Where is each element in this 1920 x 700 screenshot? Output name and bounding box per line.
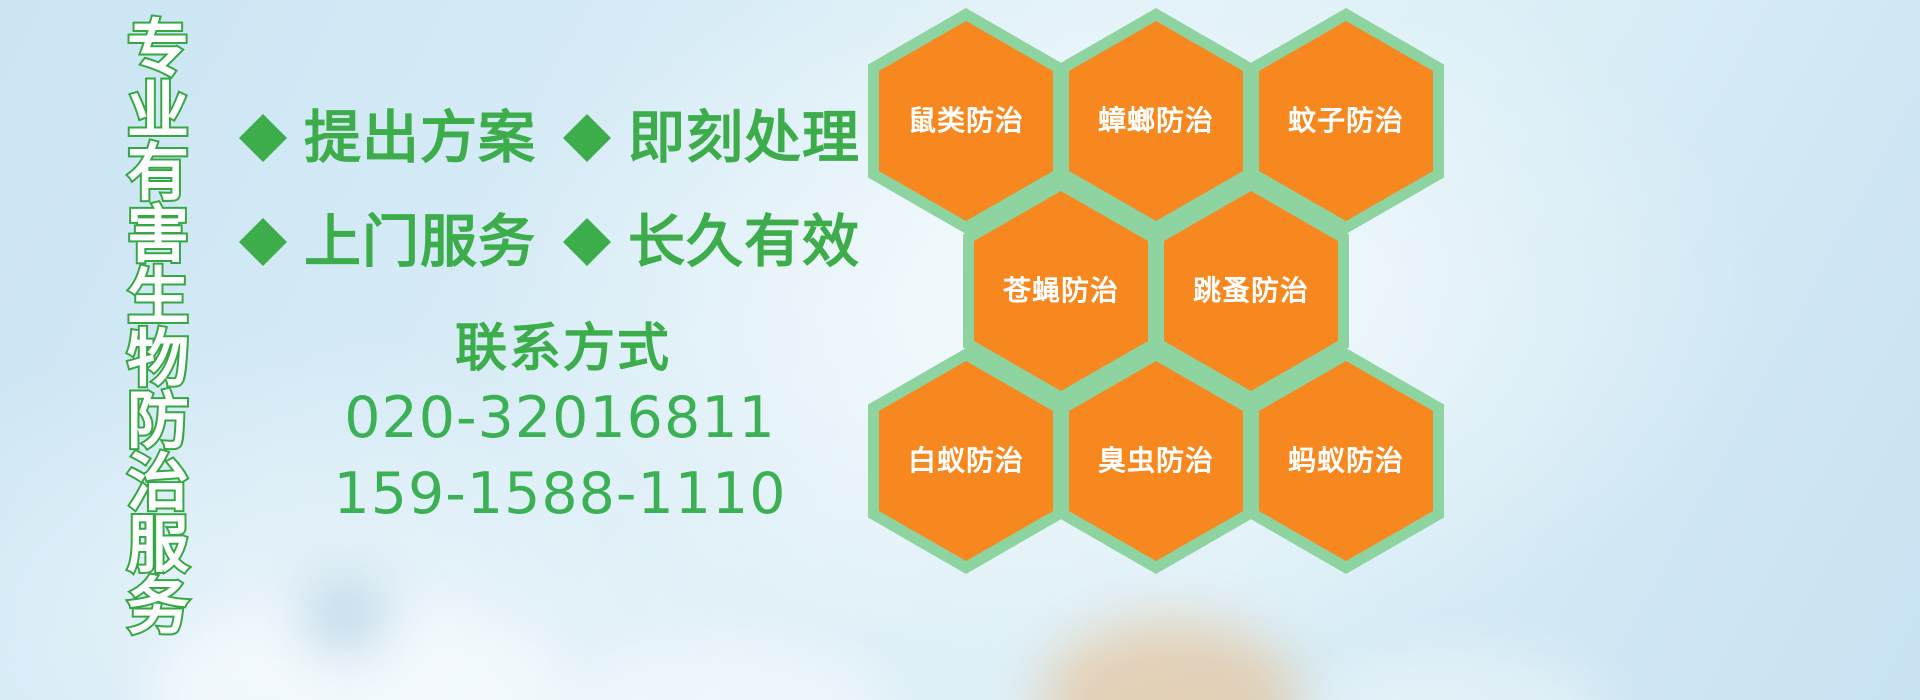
background-blur-shape — [150, 600, 570, 700]
vertical-headline-char: 物 — [127, 328, 189, 390]
vertical-headline-char: 有 — [127, 142, 189, 204]
vertical-headline-char: 治 — [127, 452, 189, 514]
background-blur-shape — [300, 575, 390, 655]
service-label: 跳蚤防治 — [1193, 275, 1309, 307]
feature-label: 上门服务 — [304, 212, 536, 272]
hex-inner: 白蚁防治 — [879, 361, 1053, 561]
service-label: 蚂蚁防治 — [1288, 445, 1404, 477]
diamond-icon — [236, 111, 290, 165]
feature-label: 长久有效 — [628, 212, 860, 272]
service-label: 苍蝇防治 — [1003, 275, 1119, 307]
hex-inner: 跳蚤防治 — [1164, 191, 1338, 391]
contact-phone-landline[interactable]: 020-32016811 — [264, 380, 856, 456]
feature-item-long-lasting: 长久有效 — [560, 212, 860, 272]
service-label: 蟑螂防治 — [1098, 105, 1214, 137]
vertical-headline-char: 害 — [127, 204, 189, 266]
vertical-headline-char: 业 — [127, 80, 189, 142]
vertical-headline-char: 防 — [127, 390, 189, 452]
feature-label: 提出方案 — [304, 108, 536, 168]
feature-label: 即刻处理 — [628, 108, 860, 168]
vertical-headline-char: 生 — [127, 266, 189, 328]
feature-row: 上门服务 长久有效 — [236, 190, 876, 294]
service-label: 臭虫防治 — [1098, 445, 1214, 477]
vertical-headline-char: 务 — [127, 576, 189, 638]
diamond-icon — [236, 215, 290, 269]
feature-row: 提出方案 即刻处理 — [236, 86, 876, 190]
hex-inner: 苍蝇防治 — [974, 191, 1148, 391]
background-blur-shape — [1310, 650, 1610, 700]
vertical-headline: 专 业 有 害 生 物 防 治 服 务 — [112, 18, 204, 578]
contact-block: 联系方式 020-32016811 159-1588-1110 — [236, 318, 856, 532]
feature-item-onsite-service: 上门服务 — [236, 212, 536, 272]
service-label: 鼠类防治 — [908, 105, 1024, 137]
contact-heading: 联系方式 — [270, 318, 856, 380]
diamond-icon — [560, 215, 614, 269]
service-honeycomb: 鼠类防治 蟑螂防治 蚊子防治 苍蝇防治 跳蚤防治 白蚁防治 — [862, 0, 1462, 580]
vertical-headline-char: 服 — [127, 514, 189, 576]
contact-phone-mobile[interactable]: 159-1588-1110 — [264, 456, 856, 532]
feature-list: 提出方案 即刻处理 上门服务 长久有效 — [236, 86, 876, 294]
hex-inner: 臭虫防治 — [1069, 361, 1243, 561]
feature-item-immediate-action: 即刻处理 — [560, 108, 860, 168]
service-label: 白蚁防治 — [908, 445, 1024, 477]
vertical-headline-char: 专 — [127, 18, 189, 80]
service-label: 蚊子防治 — [1288, 105, 1404, 137]
background-blur-shape — [1040, 620, 1300, 700]
background-blur-shape — [560, 640, 890, 700]
hex-inner: 蚊子防治 — [1259, 21, 1433, 221]
hex-inner: 鼠类防治 — [879, 21, 1053, 221]
feature-item-propose-plan: 提出方案 — [236, 108, 536, 168]
hex-inner: 蟑螂防治 — [1069, 21, 1243, 221]
promo-banner: 专 业 有 害 生 物 防 治 服 务 提出方案 即刻处理 — [0, 0, 1920, 700]
hex-inner: 蚂蚁防治 — [1259, 361, 1433, 561]
diamond-icon — [560, 111, 614, 165]
